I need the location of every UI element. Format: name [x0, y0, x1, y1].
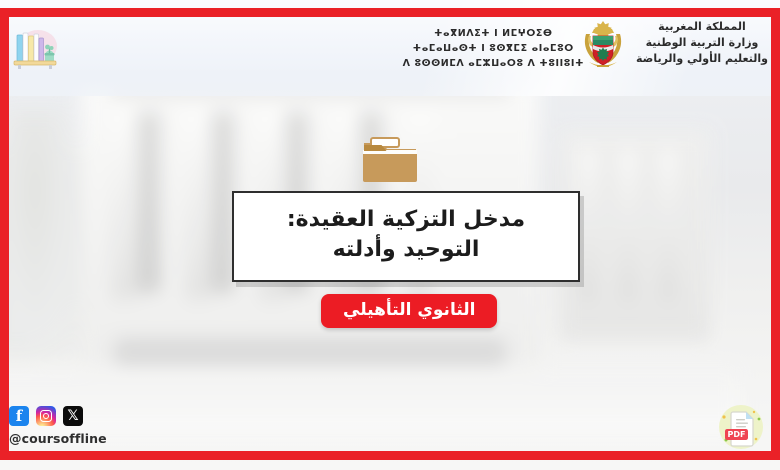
instagram-icon[interactable] — [36, 406, 56, 426]
ministry-line-2: وزارة التربية الوطنية — [636, 35, 768, 51]
ministry-line-3: والتعليم الأولي والرياضة — [636, 51, 768, 67]
top-red-bar — [0, 8, 780, 17]
pdf-document-icon[interactable]: PDF — [716, 402, 766, 452]
column-1 — [110, 110, 138, 300]
tifinagh-ministry-text: ⵜⴰⴳⵍⴷⵉⵜ ⵏ ⵍⵎⵖⵔⵉⴱ ⵜⴰⵎⴰⵡⴰⵙⵜ ⵏ ⵓⵙⴳⵎⵉ ⴰⵏⴰⵎⵓⵔ… — [403, 26, 584, 72]
social-handle[interactable]: @coursoffline — [9, 431, 107, 446]
morocco-coat-of-arms-icon — [580, 14, 626, 72]
right-column-2 — [620, 150, 636, 300]
lesson-title-card: مدخل التزكية العقيدة: التوحيد وأدلته — [232, 191, 580, 282]
lesson-title-line-2: التوحيد وأدلته — [252, 235, 560, 265]
folder-icon — [360, 133, 420, 185]
ministry-identity: المملكة المغربية وزارة التربية الوطنية و… — [580, 14, 768, 72]
instagram-lens — [43, 413, 50, 420]
ministry-arabic-text: المملكة المغربية وزارة التربية الوطنية و… — [636, 19, 768, 67]
pdf-label: PDF — [728, 430, 746, 439]
lesson-title-line-1: مدخل التزكية العقيدة: — [252, 205, 560, 235]
slide-canvas: ⵜⴰⴳⵍⴷⵉⵜ ⵏ ⵍⵎⵖⵔⵉⴱ ⵜⴰⵎⴰⵡⴰⵙⵜ ⵏ ⵓⵙⴳⵎⵉ ⴰⵏⴰⵎⵓⵔ… — [0, 0, 780, 470]
ministry-line-1: المملكة المغربية — [636, 19, 768, 35]
entrance-steps — [115, 338, 505, 364]
right-column-1 — [580, 150, 596, 300]
x-twitter-icon[interactable]: 𝕏 — [63, 406, 83, 426]
social-links: f 𝕏 @coursoffline — [9, 406, 107, 446]
right-red-bar — [771, 8, 780, 460]
facebook-icon[interactable]: f — [9, 406, 29, 426]
ground-plane — [0, 364, 740, 434]
right-column-3 — [660, 150, 676, 300]
tifinagh-line-1: ⵜⴰⴳⵍⴷⵉⵜ ⵏ ⵍⵎⵖⵔⵉⴱ — [403, 26, 584, 41]
tifinagh-line-3: ⴷ ⵓⵙⵙⵍⵎⴷ ⴰⵎⵣⵡⴰⵔⵓ ⴷ ⵜⵓⵏⵏⵓⵏⵜ — [403, 56, 584, 71]
column-2 — [184, 110, 212, 300]
building-bay-2 — [212, 112, 234, 292]
tree-left — [0, 110, 70, 340]
tifinagh-line-2: ⵜⴰⵎⴰⵡⴰⵙⵜ ⵏ ⵓⵙⴳⵎⵉ ⴰⵏⴰⵎⵓⵔ — [403, 41, 584, 56]
bookshelf-icon — [8, 26, 60, 72]
left-red-bar — [0, 8, 9, 460]
building-bay-1 — [138, 112, 160, 292]
education-level-badge[interactable]: الثانوي التأهيلي — [321, 294, 497, 328]
x-glyph: 𝕏 — [63, 406, 83, 426]
social-icon-row: f 𝕏 — [9, 406, 107, 426]
facebook-glyph: f — [9, 406, 29, 426]
bottom-red-bar — [0, 451, 780, 460]
